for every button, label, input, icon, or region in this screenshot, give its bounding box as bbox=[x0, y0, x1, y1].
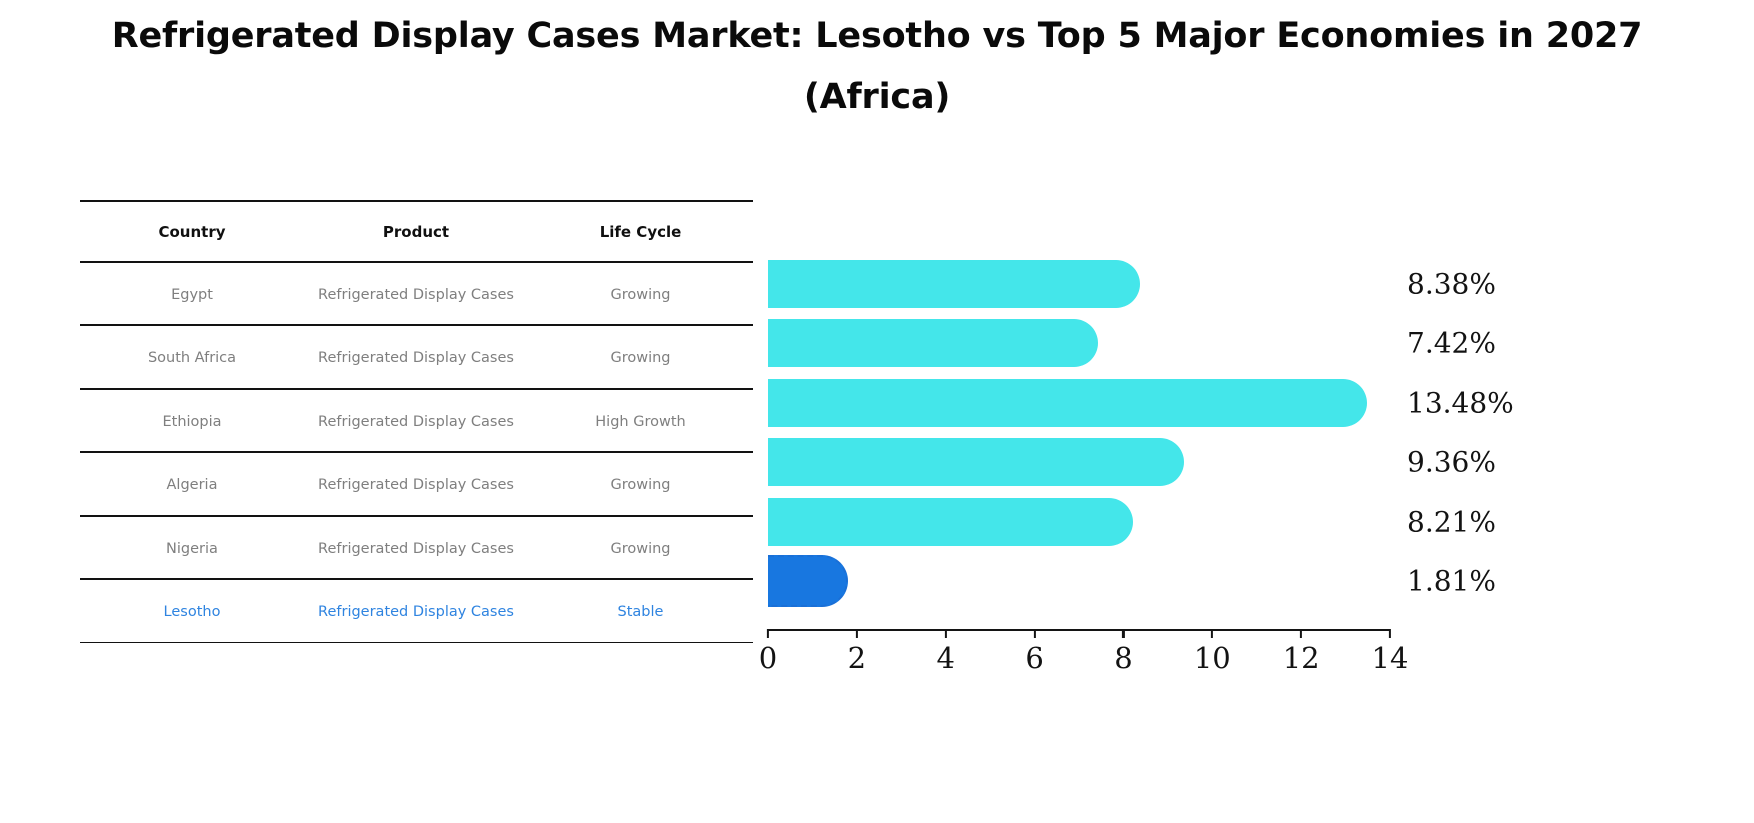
table-header-product: Product bbox=[304, 223, 528, 241]
x-axis-tick-label: 4 bbox=[936, 641, 954, 675]
table-cell-life-cycle: High Growth bbox=[528, 414, 753, 430]
table-cell-life-cycle: Growing bbox=[528, 541, 753, 557]
bar-value-label: 9.36% bbox=[1407, 446, 1496, 479]
x-axis-tick-label: 2 bbox=[848, 641, 866, 675]
x-axis-tick bbox=[1300, 629, 1302, 638]
country-table: Country Product Life Cycle Egypt Refrige… bbox=[80, 200, 753, 643]
bar-chart: 8.38% 7.42% 13.48% 9.36% 8.21% 1.81% bbox=[768, 254, 1390, 634]
table-row[interactable]: Ethiopia Refrigerated Display Cases High… bbox=[80, 392, 753, 452]
bar-ethiopia[interactable] bbox=[768, 379, 1367, 427]
x-axis-tick bbox=[1211, 629, 1213, 638]
table-header-life-cycle: Life Cycle bbox=[528, 223, 753, 241]
table-row-highlighted[interactable]: Lesotho Refrigerated Display Cases Stabl… bbox=[80, 582, 753, 642]
table-row[interactable]: Nigeria Refrigerated Display Cases Growi… bbox=[80, 519, 753, 579]
table-cell-country: South Africa bbox=[80, 350, 304, 366]
table-cell-country: Ethiopia bbox=[80, 414, 304, 430]
x-axis-tick bbox=[1389, 629, 1391, 638]
page-title-line-1: Refrigerated Display Cases Market: Lesot… bbox=[0, 6, 1754, 67]
table-cell-country: Egypt bbox=[80, 287, 304, 303]
table-cell-country: Nigeria bbox=[80, 541, 304, 557]
table-cell-country: Algeria bbox=[80, 477, 304, 493]
page-title: Refrigerated Display Cases Market: Lesot… bbox=[0, 6, 1754, 128]
chart-page: Refrigerated Display Cases Market: Lesot… bbox=[0, 0, 1754, 823]
table-cell-life-cycle: Growing bbox=[528, 350, 753, 366]
table-row[interactable]: Algeria Refrigerated Display Cases Growi… bbox=[80, 455, 753, 515]
table-cell-product: Refrigerated Display Cases bbox=[304, 414, 528, 430]
table-cell-product: Refrigerated Display Cases bbox=[304, 477, 528, 493]
x-axis-tick-label: 8 bbox=[1114, 641, 1132, 675]
bar-value-label: 1.81% bbox=[1407, 565, 1496, 598]
bar-row: 13.48% bbox=[768, 373, 1390, 433]
table-header-row: Country Product Life Cycle bbox=[80, 204, 753, 261]
table-cell-product: Refrigerated Display Cases bbox=[304, 604, 528, 620]
x-axis-tick-label: 12 bbox=[1283, 641, 1320, 675]
table-cell-product: Refrigerated Display Cases bbox=[304, 350, 528, 366]
bar-row: 8.38% bbox=[768, 254, 1390, 314]
bar-nigeria[interactable] bbox=[768, 498, 1133, 546]
table-bottom-rule bbox=[80, 642, 753, 644]
bar-value-label: 8.21% bbox=[1407, 505, 1496, 538]
table-cell-life-cycle: Growing bbox=[528, 477, 753, 493]
x-axis-line bbox=[768, 629, 1390, 631]
table-row[interactable]: Egypt Refrigerated Display Cases Growing bbox=[80, 265, 753, 325]
x-axis-tick-label: 0 bbox=[759, 641, 777, 675]
x-axis-tick-label: 14 bbox=[1372, 641, 1409, 675]
bar-value-label: 13.48% bbox=[1407, 386, 1514, 419]
table-cell-product: Refrigerated Display Cases bbox=[304, 287, 528, 303]
bar-row: 7.42% bbox=[768, 314, 1390, 374]
bar-row: 8.21% bbox=[768, 492, 1390, 552]
table-cell-life-cycle: Stable bbox=[528, 604, 753, 620]
table-cell-product: Refrigerated Display Cases bbox=[304, 541, 528, 557]
bar-row: 9.36% bbox=[768, 433, 1390, 493]
bar-egypt[interactable] bbox=[768, 260, 1140, 308]
x-axis-tick-label: 6 bbox=[1025, 641, 1043, 675]
x-axis-tick bbox=[1122, 629, 1124, 638]
table-cell-life-cycle: Growing bbox=[528, 287, 753, 303]
table-cell-country: Lesotho bbox=[80, 604, 304, 620]
x-axis-tick-label: 10 bbox=[1194, 641, 1231, 675]
bar-lesotho[interactable] bbox=[768, 555, 848, 607]
page-title-line-2: (Africa) bbox=[0, 67, 1754, 128]
bar-row: 1.81% bbox=[768, 552, 1390, 612]
x-axis-tick bbox=[1033, 629, 1035, 638]
bar-south-africa[interactable] bbox=[768, 319, 1098, 367]
bar-value-label: 8.38% bbox=[1407, 267, 1496, 300]
x-axis-tick bbox=[767, 629, 769, 638]
bar-value-label: 7.42% bbox=[1407, 327, 1496, 360]
bar-algeria[interactable] bbox=[768, 438, 1184, 486]
table-row[interactable]: South Africa Refrigerated Display Cases … bbox=[80, 328, 753, 388]
x-axis-tick bbox=[945, 629, 947, 638]
x-axis: 02468101214 bbox=[768, 629, 1390, 699]
table-header-country: Country bbox=[80, 223, 304, 241]
x-axis-tick bbox=[856, 629, 858, 638]
